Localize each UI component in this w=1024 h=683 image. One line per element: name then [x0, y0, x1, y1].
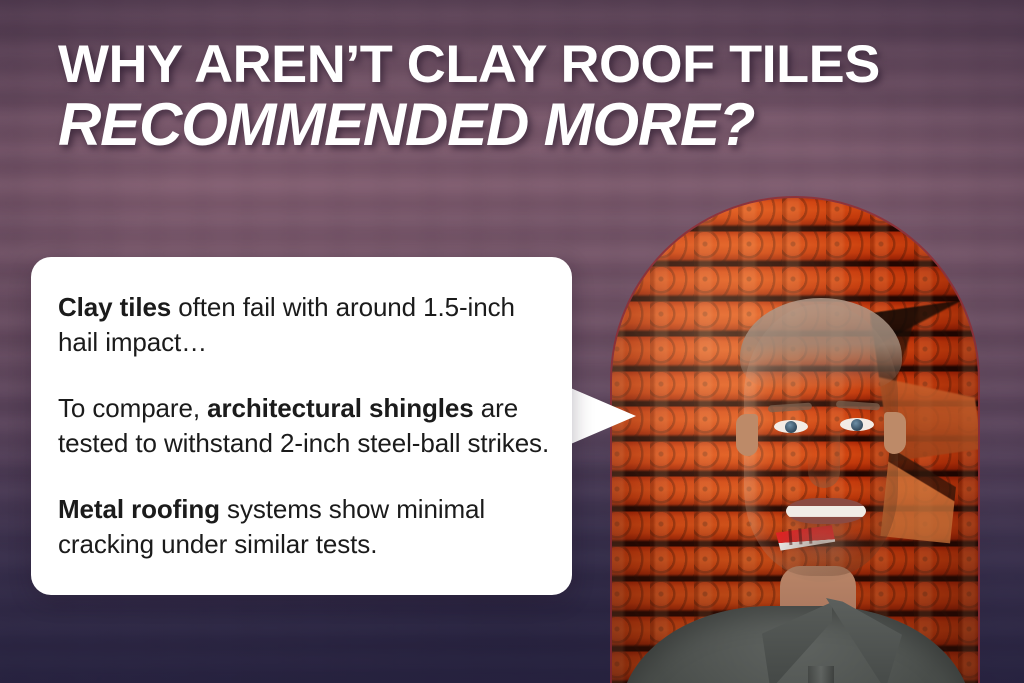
shirt-placket: [808, 666, 834, 683]
bubble-paragraph-1: Clay tiles often fail with around 1.5-in…: [58, 290, 550, 360]
portrait-arch-frame: [612, 198, 978, 683]
bubble-paragraph-2: To compare, architectural shingles are t…: [58, 391, 550, 461]
bubble-paragraph-3: Metal roofing systems show minimal crack…: [58, 492, 550, 562]
hair: [740, 298, 902, 390]
eye-left: [774, 420, 808, 433]
ear-left: [736, 414, 758, 456]
speech-bubble-text: Clay tiles often fail with around 1.5-in…: [58, 290, 550, 562]
eye-right: [840, 418, 874, 431]
bubble-p2-bold: architectural shingles: [207, 393, 474, 423]
contractor-figure: [612, 198, 978, 683]
chin-shadow: [762, 518, 882, 582]
headline-line-2: RECOMMENDED MORE?: [58, 92, 988, 158]
headline-line-1: WHY AREN’T CLAY ROOF TILES: [58, 38, 1007, 92]
poster-canvas: WHY AREN’T CLAY ROOF TILES RECOMMENDED M…: [0, 0, 1024, 683]
bubble-p2-pre: To compare,: [58, 393, 207, 423]
headline: WHY AREN’T CLAY ROOF TILES RECOMMENDED M…: [58, 38, 988, 158]
portrait-photo: [612, 198, 978, 683]
ear-right: [884, 412, 906, 454]
nose: [808, 432, 840, 488]
bubble-p3-bold: Metal roofing: [58, 494, 220, 524]
bubble-p1-bold: Clay tiles: [58, 292, 171, 322]
